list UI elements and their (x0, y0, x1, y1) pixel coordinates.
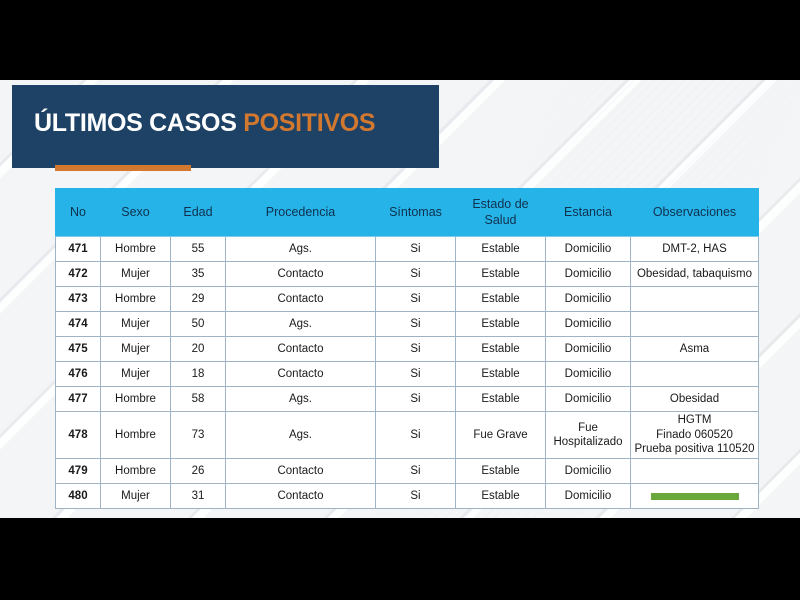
cell-estado-salud: Estable (456, 459, 546, 484)
cell-no: 478 (56, 412, 101, 459)
presentation-slide: ÚLTIMOS CASOS POSITIVOS No (0, 80, 800, 518)
cell-estancia: Domicilio (546, 337, 631, 362)
column-header-observaciones: Observaciones (631, 189, 759, 237)
screenshot-stage: ÚLTIMOS CASOS POSITIVOS No (0, 0, 800, 600)
table-row: 471Hombre55Ags.SiEstableDomicilioDMT-2, … (56, 237, 759, 262)
cell-edad: 35 (171, 262, 226, 287)
cell-estancia: Domicilio (546, 262, 631, 287)
cell-no: 472 (56, 262, 101, 287)
table-row: 472Mujer35ContactoSiEstableDomicilioObes… (56, 262, 759, 287)
cell-estado-salud: Estable (456, 387, 546, 412)
cell-observaciones (631, 312, 759, 337)
column-header-no: No (56, 189, 101, 237)
cell-estado-salud: Estable (456, 287, 546, 312)
cell-observaciones (631, 459, 759, 484)
page-title-main: ÚLTIMOS CASOS (34, 109, 243, 137)
cell-observaciones: DMT-2, HAS (631, 237, 759, 262)
cell-sintomas: Si (376, 387, 456, 412)
cell-no: 471 (56, 237, 101, 262)
page-title-accent: POSITIVOS (243, 109, 375, 137)
cell-edad: 58 (171, 387, 226, 412)
cell-sexo: Mujer (101, 262, 171, 287)
cell-procedencia: Ags. (226, 412, 376, 459)
cell-no: 480 (56, 484, 101, 509)
cases-table: No Sexo Edad Procedencia Síntomas Estado… (55, 188, 759, 509)
cell-sintomas: Si (376, 412, 456, 459)
cell-no: 479 (56, 459, 101, 484)
table-header-row: No Sexo Edad Procedencia Síntomas Estado… (56, 189, 759, 237)
cell-observaciones: HGTM Finado 060520 Prueba positiva 11052… (631, 412, 759, 459)
cell-no: 473 (56, 287, 101, 312)
table-row: 477Hombre58Ags.SiEstableDomicilioObesida… (56, 387, 759, 412)
column-header-procedencia: Procedencia (226, 189, 376, 237)
cell-procedencia: Ags. (226, 387, 376, 412)
column-header-estancia: Estancia (546, 189, 631, 237)
cell-sintomas: Si (376, 287, 456, 312)
table-row: 480Mujer31ContactoSiEstableDomicilio (56, 484, 759, 509)
cell-no: 476 (56, 362, 101, 387)
cell-procedencia: Contacto (226, 459, 376, 484)
cell-estancia: Domicilio (546, 484, 631, 509)
table-row: 475Mujer20ContactoSiEstableDomicilioAsma (56, 337, 759, 362)
cases-table-container: No Sexo Edad Procedencia Síntomas Estado… (55, 188, 758, 509)
cell-estancia: Fue Hospitalizado (546, 412, 631, 459)
cell-observaciones (631, 484, 759, 509)
cell-observaciones (631, 362, 759, 387)
cell-estado-salud: Estable (456, 337, 546, 362)
cell-edad: 18 (171, 362, 226, 387)
cell-no: 477 (56, 387, 101, 412)
cell-sintomas: Si (376, 337, 456, 362)
cell-edad: 20 (171, 337, 226, 362)
redaction-highlight-bar (651, 493, 739, 500)
cell-edad: 29 (171, 287, 226, 312)
cell-sintomas: Si (376, 237, 456, 262)
cell-sexo: Hombre (101, 459, 171, 484)
cell-estancia: Domicilio (546, 287, 631, 312)
cell-edad: 73 (171, 412, 226, 459)
cell-sexo: Hombre (101, 287, 171, 312)
cell-sintomas: Si (376, 312, 456, 337)
table-row: 478Hombre73Ags.SiFue GraveFue Hospitaliz… (56, 412, 759, 459)
cell-estancia: Domicilio (546, 459, 631, 484)
title-banner: ÚLTIMOS CASOS POSITIVOS (12, 85, 439, 168)
cell-procedencia: Contacto (226, 337, 376, 362)
cell-observaciones: Obesidad, tabaquismo (631, 262, 759, 287)
table-row: 473Hombre29ContactoSiEstableDomicilio (56, 287, 759, 312)
cell-observaciones: Asma (631, 337, 759, 362)
cell-sexo: Mujer (101, 337, 171, 362)
cell-estancia: Domicilio (546, 362, 631, 387)
cell-sintomas: Si (376, 484, 456, 509)
cell-procedencia: Contacto (226, 484, 376, 509)
cell-estado-salud: Estable (456, 312, 546, 337)
table-body: 471Hombre55Ags.SiEstableDomicilioDMT-2, … (56, 237, 759, 509)
cell-estado-salud: Estable (456, 362, 546, 387)
cell-sexo: Hombre (101, 412, 171, 459)
title-underline-accent (55, 165, 191, 171)
letterbox-top (0, 0, 800, 80)
cell-estado-salud: Fue Grave (456, 412, 546, 459)
cell-sexo: Hombre (101, 387, 171, 412)
cell-estancia: Domicilio (546, 387, 631, 412)
cell-sintomas: Si (376, 459, 456, 484)
cell-procedencia: Ags. (226, 312, 376, 337)
cell-edad: 31 (171, 484, 226, 509)
cell-procedencia: Ags. (226, 237, 376, 262)
letterbox-bottom (0, 518, 800, 600)
cell-sintomas: Si (376, 362, 456, 387)
cell-sexo: Mujer (101, 312, 171, 337)
cell-sexo: Mujer (101, 484, 171, 509)
cell-procedencia: Contacto (226, 287, 376, 312)
column-header-sintomas: Síntomas (376, 189, 456, 237)
cell-procedencia: Contacto (226, 362, 376, 387)
cell-observaciones (631, 287, 759, 312)
cell-estado-salud: Estable (456, 262, 546, 287)
column-header-estado-salud: Estado de Salud (456, 189, 546, 237)
cell-estado-salud: Estable (456, 484, 546, 509)
cell-sexo: Hombre (101, 237, 171, 262)
page-title: ÚLTIMOS CASOS POSITIVOS (34, 109, 375, 138)
cell-observaciones: Obesidad (631, 387, 759, 412)
cell-no: 475 (56, 337, 101, 362)
cell-estancia: Domicilio (546, 312, 631, 337)
column-header-edad: Edad (171, 189, 226, 237)
cell-sintomas: Si (376, 262, 456, 287)
cell-sexo: Mujer (101, 362, 171, 387)
cell-procedencia: Contacto (226, 262, 376, 287)
table-row: 479Hombre26ContactoSiEstableDomicilio (56, 459, 759, 484)
cell-estado-salud: Estable (456, 237, 546, 262)
column-header-sexo: Sexo (101, 189, 171, 237)
table-row: 474Mujer50Ags.SiEstableDomicilio (56, 312, 759, 337)
cell-no: 474 (56, 312, 101, 337)
cell-edad: 55 (171, 237, 226, 262)
cell-edad: 50 (171, 312, 226, 337)
cell-estancia: Domicilio (546, 237, 631, 262)
cell-edad: 26 (171, 459, 226, 484)
table-header: No Sexo Edad Procedencia Síntomas Estado… (56, 189, 759, 237)
table-row: 476Mujer18ContactoSiEstableDomicilio (56, 362, 759, 387)
